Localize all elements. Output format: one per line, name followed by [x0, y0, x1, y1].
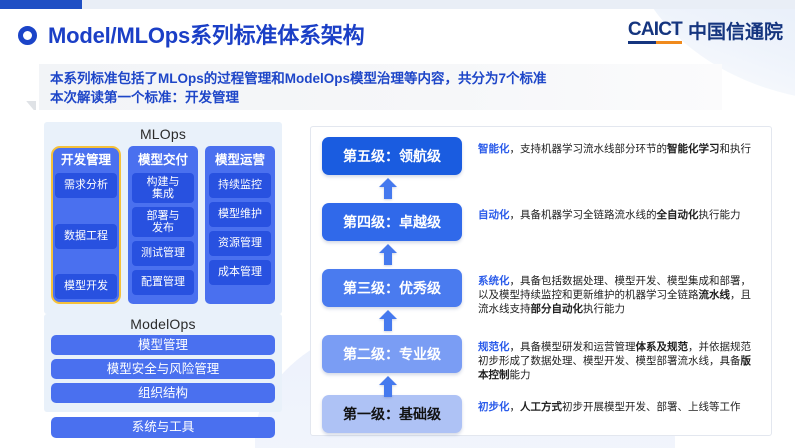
ring-icon: [18, 26, 37, 45]
slide-header: Model/MLOps系列标准体系架构: [18, 18, 364, 50]
level-up-arrow-icon: [379, 310, 397, 331]
level-up-arrow-icon: [379, 244, 397, 265]
mlops-column[interactable]: 模型交付构建与集成部署与发布测试管理配置管理: [128, 146, 198, 304]
maturity-level-box[interactable]: 第二级：专业级: [322, 335, 462, 373]
modelops-panel: ModelOps 模型管理模型安全与风险管理组织结构: [44, 314, 282, 412]
mlops-column[interactable]: 模型运营持续监控模型维护资源管理成本管理: [205, 146, 275, 304]
maturity-model-panel: 第五级：领航级智能化，支持机器学习流水线部分环节的智能化学习和执行第四级：卓越级…: [310, 126, 772, 436]
modelops-bar[interactable]: 模型安全与风险管理: [51, 359, 275, 379]
maturity-level-description: 智能化，支持机器学习流水线部分环节的智能化学习和执行: [478, 142, 754, 156]
system-tools-bar[interactable]: 系统与工具: [51, 417, 275, 438]
maturity-level-box[interactable]: 第三级：优秀级: [322, 269, 462, 307]
mlops-item[interactable]: 部署与发布: [132, 207, 194, 237]
maturity-level-row: 第二级：专业级规范化，具备模型研发和运营管理体系及规范，并依据规范初步形成了数据…: [311, 335, 771, 382]
caict-logo: CAICT 中国信通院: [628, 20, 783, 44]
maturity-levels: 第五级：领航级智能化，支持机器学习流水线部分环节的智能化学习和执行第四级：卓越级…: [311, 127, 771, 435]
subtitle-line-1: 本系列标准包括了MLOps的过程管理和ModelOps模型治理等内容，共分为7个…: [50, 69, 722, 88]
mlops-item[interactable]: 模型维护: [209, 202, 271, 227]
mlops-item[interactable]: 测试管理: [132, 241, 194, 266]
mlops-item-list: 构建与集成部署与发布测试管理配置管理: [132, 173, 194, 299]
mlops-column-header: 模型运营: [209, 150, 271, 170]
level-up-arrow-icon: [379, 376, 397, 397]
maturity-level-row: 第一级：基础级初步化，人工方式初步开展模型开发、部署、上线等工作: [311, 395, 771, 433]
slide-canvas: Model/MLOps系列标准体系架构 CAICT 中国信通院 本系列标准包括了…: [0, 0, 795, 448]
mlops-column-header: 开发管理: [55, 150, 117, 170]
maturity-level-description: 自动化，具备机器学习全链路流水线的全自动化执行能力: [478, 208, 754, 222]
maturity-level-description: 初步化，人工方式初步开展模型开发、部署、上线等工作: [478, 400, 754, 414]
mlops-panel: MLOps 开发管理需求分析数据工程模型开发模型交付构建与集成部署与发布测试管理…: [44, 122, 282, 314]
mlops-item[interactable]: 数据工程: [55, 224, 117, 249]
mlops-item[interactable]: 构建与集成: [132, 173, 194, 203]
subtitle-banner: 本系列标准包括了MLOps的过程管理和ModelOps模型治理等内容，共分为7个…: [36, 64, 722, 110]
top-accent-bar-left: [0, 0, 82, 9]
maturity-level-description: 规范化，具备模型研发和运营管理体系及规范，并依据规范初步形成了数据处理、模型开发…: [478, 340, 754, 382]
modelops-bar[interactable]: 组织结构: [51, 383, 275, 403]
logo-underline: [628, 41, 682, 44]
mlops-item[interactable]: 成本管理: [209, 260, 271, 285]
mlops-item[interactable]: 持续监控: [209, 173, 271, 198]
logo-underline-orange: [656, 41, 682, 44]
logo-underline-blue: [628, 41, 656, 44]
mlops-columns: 开发管理需求分析数据工程模型开发模型交付构建与集成部署与发布测试管理配置管理模型…: [44, 144, 282, 304]
mlops-item-list: 持续监控模型维护资源管理成本管理: [209, 173, 271, 299]
logo-en-text: CAICT: [628, 20, 682, 40]
mlops-column[interactable]: 开发管理需求分析数据工程模型开发: [51, 146, 121, 304]
top-accent-bar-right: [82, 0, 795, 9]
maturity-level-box[interactable]: 第四级：卓越级: [322, 203, 462, 241]
maturity-level-row: 第三级：优秀级系统化，具备包括数据处理、模型开发、模型集成和部署，以及模型持续监…: [311, 269, 771, 316]
modelops-title: ModelOps: [51, 314, 275, 335]
maturity-level-box[interactable]: 第一级：基础级: [322, 395, 462, 433]
maturity-level-row: 第四级：卓越级自动化，具备机器学习全链路流水线的全自动化执行能力: [311, 203, 771, 241]
maturity-level-box[interactable]: 第五级：领航级: [322, 137, 462, 175]
modelops-bar[interactable]: 模型管理: [51, 335, 275, 355]
mlops-item[interactable]: 配置管理: [132, 270, 194, 295]
mlops-item[interactable]: 模型开发: [55, 274, 117, 299]
level-up-arrow-icon: [379, 178, 397, 199]
mlops-item[interactable]: 资源管理: [209, 231, 271, 256]
subtitle-line-2: 本次解读第一个标准：开发管理: [50, 88, 722, 107]
mlops-item-list: 需求分析数据工程模型开发: [55, 173, 117, 299]
logo-cn-text: 中国信通院: [688, 22, 783, 44]
mlops-column-header: 模型交付: [132, 150, 194, 170]
maturity-level-description: 系统化，具备包括数据处理、模型开发、模型集成和部署，以及模型持续监控和更新维护的…: [478, 274, 754, 316]
maturity-level-row: 第五级：领航级智能化，支持机器学习流水线部分环节的智能化学习和执行: [311, 137, 771, 175]
mlops-title: MLOps: [44, 122, 282, 144]
mlops-item[interactable]: 需求分析: [55, 173, 117, 198]
modelops-bar-list: 模型管理模型安全与风险管理组织结构: [51, 335, 275, 403]
page-title: Model/MLOps系列标准体系架构: [48, 18, 364, 50]
logo-en-wrap: CAICT: [628, 20, 682, 44]
